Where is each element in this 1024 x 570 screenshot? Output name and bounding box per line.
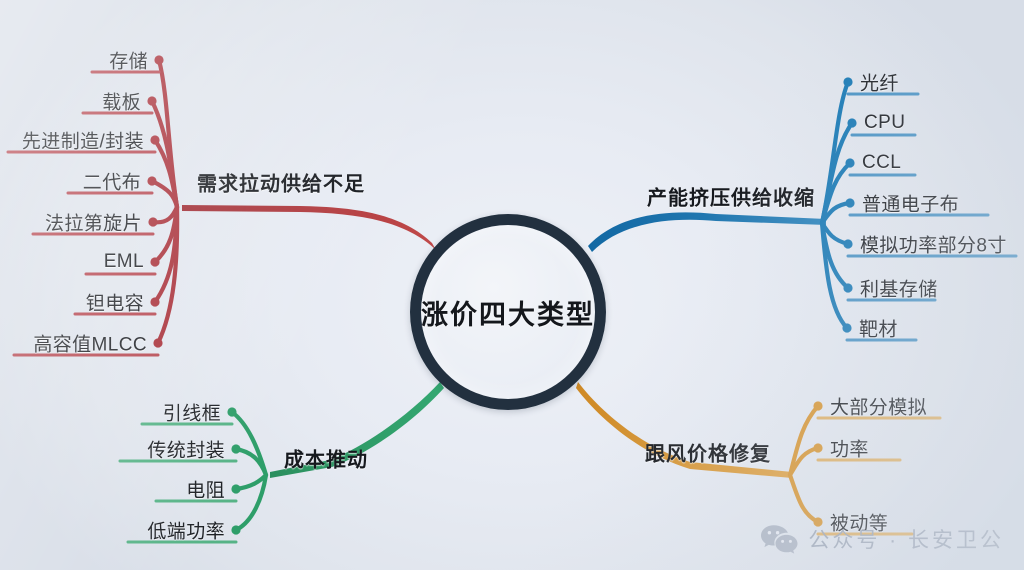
leaf-demand-pull-5[interactable]: 法拉第旋片 <box>45 209 142 236</box>
leaf-demand-pull-2[interactable]: 载板 <box>102 88 141 115</box>
mindmap-canvas: 存储 载板 先进制造/封装 二代布 法拉第旋片 EML 钽电容 高容值MLCC … <box>0 0 1024 570</box>
leaf-cost-push-1[interactable]: 引线框 <box>163 399 221 426</box>
leaf-capacity-squeeze-6[interactable]: 利基存储 <box>860 275 938 302</box>
leaf-demand-pull-3[interactable]: 先进制造/封装 <box>22 127 144 154</box>
leaf-capacity-squeeze-7[interactable]: 靶材 <box>859 315 898 342</box>
leaf-capacity-squeeze-5[interactable]: 模拟功率部分8寸 <box>860 231 1007 258</box>
leaf-price-repair-2[interactable]: 功率 <box>830 435 869 462</box>
leaf-demand-pull-4[interactable]: 二代布 <box>83 168 141 195</box>
branch-label-cost-push[interactable]: 成本推动 <box>284 444 368 473</box>
center-node[interactable]: 涨价四大类型 <box>410 214 606 410</box>
leaf-demand-pull-8[interactable]: 高容值MLCC <box>33 330 147 357</box>
leaf-capacity-squeeze-3[interactable]: CCL <box>862 152 901 174</box>
watermark-text: 公众号 · 长安卫公 <box>808 524 1004 554</box>
wechat-icon <box>760 524 798 554</box>
leaf-demand-pull-7[interactable]: 钽电容 <box>86 289 144 316</box>
leaf-capacity-squeeze-1[interactable]: 光纤 <box>860 69 899 96</box>
leaf-demand-pull-6[interactable]: EML <box>104 251 144 273</box>
branch-label-demand-pull[interactable]: 需求拉动供给不足 <box>197 168 365 197</box>
branch-label-capacity-squeeze[interactable]: 产能挤压供给收缩 <box>647 182 815 211</box>
leaf-demand-pull-1[interactable]: 存储 <box>109 47 148 74</box>
leaf-cost-push-3[interactable]: 电阻 <box>186 476 225 503</box>
watermark: 公众号 · 长安卫公 <box>760 524 1004 554</box>
branch-label-price-repair[interactable]: 跟风价格修复 <box>645 438 771 467</box>
center-node-label: 涨价四大类型 <box>421 293 595 332</box>
leaf-cost-push-4[interactable]: 低端功率 <box>147 517 225 544</box>
branch-wire-demand-pull <box>8 55 436 355</box>
leaf-cost-push-2[interactable]: 传统封装 <box>147 436 225 463</box>
leaf-price-repair-1[interactable]: 大部分模拟 <box>830 393 927 420</box>
leaf-capacity-squeeze-4[interactable]: 普通电子布 <box>862 190 959 217</box>
leaf-capacity-squeeze-2[interactable]: CPU <box>864 112 905 134</box>
